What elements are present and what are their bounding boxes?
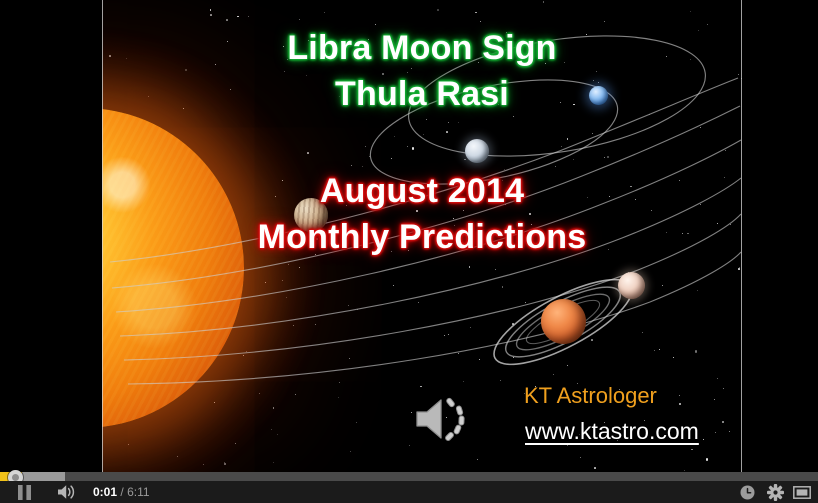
presentation-slide: Libra Moon Sign Thula Rasi August 2014 M… bbox=[102, 0, 742, 472]
video-player[interactable]: Libra Moon Sign Thula Rasi August 2014 M… bbox=[0, 0, 818, 503]
video-stage[interactable]: Libra Moon Sign Thula Rasi August 2014 M… bbox=[0, 0, 818, 472]
slide-title-line-1: Libra Moon Sign bbox=[102, 31, 742, 66]
time-separator: / bbox=[120, 485, 123, 499]
pause-button[interactable] bbox=[12, 481, 36, 503]
time-current: 0:01 bbox=[93, 485, 117, 499]
slide-title-line-2: Thula Rasi bbox=[102, 77, 742, 112]
pause-icon bbox=[18, 485, 31, 500]
planet-saturn bbox=[541, 299, 586, 344]
slide-subtitle-line-2: Monthly Predictions bbox=[102, 220, 742, 255]
fullscreen-icon bbox=[793, 486, 811, 499]
gear-icon bbox=[767, 484, 784, 501]
time-display: 0:01 / 6:11 bbox=[93, 481, 150, 503]
brand-label: KT Astrologer bbox=[524, 383, 657, 409]
slide-subtitle-line-1: August 2014 bbox=[102, 174, 742, 209]
volume-icon bbox=[57, 484, 77, 500]
planet-mars bbox=[618, 272, 645, 299]
website-url: www.ktastro.com bbox=[525, 418, 699, 445]
planet-uranus bbox=[465, 139, 489, 163]
settings-button[interactable] bbox=[764, 481, 786, 503]
clock-icon bbox=[740, 485, 755, 500]
control-bar: 0:01 / 6:11 bbox=[0, 481, 818, 503]
slide-frame-right-edge bbox=[741, 0, 742, 472]
fullscreen-button[interactable] bbox=[791, 481, 813, 503]
volume-button[interactable] bbox=[54, 481, 80, 503]
player-controls[interactable]: 0:01 / 6:11 bbox=[0, 472, 818, 503]
progress-bar[interactable] bbox=[0, 472, 818, 481]
time-total: 6:11 bbox=[127, 485, 149, 499]
speaker-audio-icon bbox=[413, 393, 475, 445]
watch-later-button[interactable] bbox=[737, 481, 757, 503]
slide-frame-left-edge bbox=[102, 0, 103, 472]
